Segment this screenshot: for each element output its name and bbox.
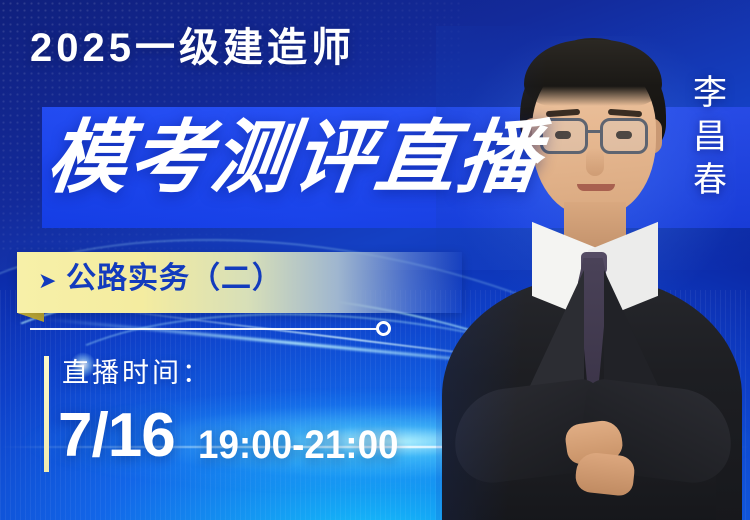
presenter-hair-fringe xyxy=(524,40,662,106)
presenter-name-char-1: 李 xyxy=(688,72,734,116)
presenter-glasses-bridge xyxy=(587,130,602,133)
subject-label: 公路实务（二） xyxy=(66,264,283,294)
presenter-nose xyxy=(586,148,604,176)
schedule-accent-bar xyxy=(44,356,49,472)
presenter-glasses-lens-right xyxy=(600,118,648,154)
poster-headline: 模考测评直播 xyxy=(43,118,545,198)
schedule-label: 直播时间： xyxy=(62,360,212,387)
decorative-connector-dot xyxy=(376,321,391,336)
presenter-name-char-2: 昌 xyxy=(688,116,734,160)
presenter-name-char-3: 春 xyxy=(688,159,734,203)
arrow-right-icon: ➤ xyxy=(38,270,56,292)
presenter-hand-right xyxy=(574,451,636,497)
decorative-connector-line xyxy=(30,328,378,330)
schedule-date: 7/16 xyxy=(58,405,175,467)
poster-kicker-title: 2025一级建造师 xyxy=(30,28,355,68)
presenter-name-vertical: 李 昌 春 xyxy=(688,72,734,203)
live-class-promo-poster: 2025一级建造师 模考测评直播 ➤ 公路实务（二） 直播时间： 7/16 19… xyxy=(0,0,750,520)
schedule-time-range: 19:00-21:00 xyxy=(198,425,399,465)
presenter-mouth xyxy=(577,184,615,191)
presenter-glasses-lens-left xyxy=(540,118,588,154)
